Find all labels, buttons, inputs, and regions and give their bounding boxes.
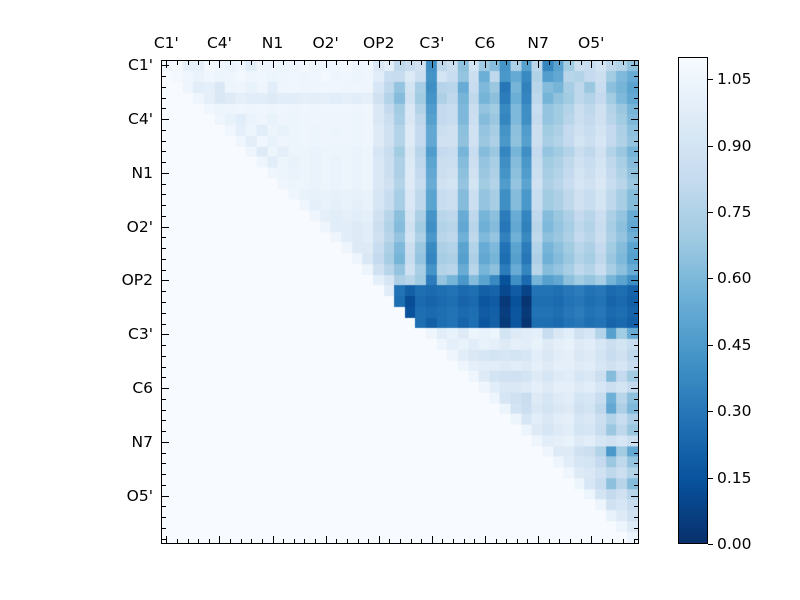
axis-tick bbox=[241, 539, 242, 544]
axis-tick bbox=[400, 539, 401, 544]
axis-tick bbox=[631, 388, 639, 389]
axis-tick bbox=[623, 539, 624, 544]
axis-tick bbox=[581, 539, 582, 544]
axis-tick bbox=[634, 291, 639, 292]
axis-tick bbox=[432, 60, 433, 68]
figure-canvas: C1'C4'N1O2'OP2C3'C6N7O5' C1'C4'N1O2'OP2C… bbox=[0, 0, 800, 600]
axis-tick bbox=[161, 248, 166, 249]
axis-tick bbox=[634, 60, 635, 65]
axis-tick bbox=[634, 345, 639, 346]
axis-tick bbox=[634, 463, 639, 464]
axis-tick bbox=[634, 399, 639, 400]
axis-tick bbox=[161, 65, 169, 66]
axis-tick bbox=[161, 410, 166, 411]
axis-tick bbox=[379, 536, 380, 544]
axis-tick bbox=[368, 539, 369, 544]
axis-tick bbox=[634, 259, 639, 260]
colorbar-tick bbox=[708, 278, 713, 279]
axis-tick bbox=[631, 496, 639, 497]
axis-tick bbox=[161, 141, 166, 142]
axis-tick bbox=[634, 130, 639, 131]
axis-tick bbox=[161, 453, 166, 454]
axis-tick bbox=[634, 506, 639, 507]
axis-tick bbox=[634, 108, 639, 109]
axis-tick bbox=[549, 60, 550, 65]
x-tick-label: N7 bbox=[527, 34, 548, 52]
axis-tick bbox=[304, 60, 305, 65]
colorbar-tick-label: 0.00 bbox=[717, 535, 752, 553]
axis-tick bbox=[161, 517, 166, 518]
axis-tick bbox=[161, 528, 166, 529]
axis-tick bbox=[230, 539, 231, 544]
axis-tick bbox=[421, 60, 422, 65]
y-tick-label: N7 bbox=[132, 433, 153, 451]
colorbar-tick-label: 0.45 bbox=[717, 336, 752, 354]
axis-tick bbox=[612, 60, 613, 65]
axis-tick bbox=[517, 539, 518, 544]
axis-tick bbox=[634, 431, 639, 432]
axis-tick bbox=[304, 539, 305, 544]
axis-tick bbox=[623, 60, 624, 65]
axis-tick bbox=[161, 388, 169, 389]
axis-tick bbox=[326, 536, 327, 544]
axis-tick bbox=[634, 194, 639, 195]
axis-tick bbox=[241, 60, 242, 65]
axis-tick bbox=[161, 162, 166, 163]
x-tick-label: O2' bbox=[312, 34, 338, 52]
axis-tick bbox=[506, 539, 507, 544]
axis-tick bbox=[634, 248, 639, 249]
axis-tick bbox=[161, 205, 166, 206]
axis-tick bbox=[634, 324, 639, 325]
axis-tick bbox=[527, 60, 528, 65]
axis-tick bbox=[294, 60, 295, 65]
axis-tick bbox=[161, 259, 166, 260]
axis-tick bbox=[273, 60, 274, 68]
axis-tick bbox=[198, 60, 199, 65]
colorbar-gradient bbox=[679, 58, 707, 543]
axis-tick bbox=[453, 539, 454, 544]
axis-tick bbox=[161, 130, 166, 131]
colorbar-tick bbox=[708, 212, 713, 213]
axis-tick bbox=[432, 536, 433, 544]
axis-tick bbox=[634, 76, 639, 77]
axis-tick bbox=[161, 420, 166, 421]
axis-tick bbox=[273, 536, 274, 544]
axis-tick bbox=[634, 151, 639, 152]
axis-tick bbox=[161, 184, 166, 185]
axis-tick bbox=[612, 539, 613, 544]
axis-tick bbox=[634, 453, 639, 454]
axis-tick bbox=[161, 345, 166, 346]
axis-tick bbox=[283, 539, 284, 544]
axis-tick bbox=[485, 536, 486, 544]
axis-tick bbox=[631, 173, 639, 174]
axis-tick bbox=[161, 108, 166, 109]
axis-tick bbox=[634, 367, 639, 368]
axis-tick bbox=[453, 60, 454, 65]
axis-tick bbox=[634, 377, 639, 378]
axis-tick bbox=[188, 539, 189, 544]
colorbar-tick bbox=[708, 478, 713, 479]
axis-tick bbox=[527, 539, 528, 544]
axis-tick bbox=[347, 539, 348, 544]
axis-tick bbox=[379, 60, 380, 68]
axis-tick bbox=[230, 60, 231, 65]
axis-tick bbox=[634, 410, 639, 411]
axis-tick bbox=[634, 474, 639, 475]
colorbar-tick bbox=[708, 79, 713, 80]
axis-tick bbox=[161, 227, 169, 228]
axis-tick bbox=[634, 87, 639, 88]
axis-tick bbox=[219, 536, 220, 544]
axis-tick bbox=[634, 313, 639, 314]
axis-tick bbox=[251, 60, 252, 65]
axis-tick bbox=[161, 356, 166, 357]
axis-tick bbox=[177, 60, 178, 65]
x-tick-label: C3' bbox=[419, 34, 444, 52]
x-tick-label: OP2 bbox=[363, 34, 394, 52]
axis-tick bbox=[634, 205, 639, 206]
axis-tick bbox=[161, 463, 166, 464]
axis-tick bbox=[219, 60, 220, 68]
colorbar-tick-label: 0.60 bbox=[717, 269, 752, 287]
axis-tick bbox=[161, 399, 166, 400]
colorbar-tick-label: 0.15 bbox=[717, 469, 752, 487]
axis-tick bbox=[347, 60, 348, 65]
heatmap-grid[interactable] bbox=[162, 61, 638, 543]
axis-tick bbox=[262, 539, 263, 544]
axis-tick bbox=[209, 60, 210, 65]
axis-tick bbox=[161, 334, 169, 335]
x-tick-label: O5' bbox=[578, 34, 604, 52]
y-tick-label: C6 bbox=[132, 379, 153, 397]
colorbar[interactable] bbox=[678, 57, 708, 544]
axis-tick bbox=[283, 60, 284, 65]
x-tick-label: C1' bbox=[154, 34, 179, 52]
axis-tick bbox=[591, 536, 592, 544]
axis-tick bbox=[634, 270, 639, 271]
axis-tick bbox=[166, 536, 167, 544]
x-tick-label: C6 bbox=[475, 34, 496, 52]
axis-tick bbox=[549, 539, 550, 544]
axis-tick bbox=[485, 60, 486, 68]
axis-tick bbox=[570, 60, 571, 65]
axis-tick bbox=[591, 60, 592, 68]
axis-tick bbox=[161, 151, 166, 152]
axis-tick bbox=[631, 227, 639, 228]
axis-tick bbox=[631, 442, 639, 443]
axis-tick bbox=[161, 291, 166, 292]
axis-tick bbox=[474, 60, 475, 65]
axis-tick bbox=[496, 60, 497, 65]
axis-tick bbox=[581, 60, 582, 65]
axis-tick bbox=[442, 539, 443, 544]
axis-tick bbox=[315, 60, 316, 65]
axis-tick bbox=[198, 539, 199, 544]
axis-tick bbox=[411, 60, 412, 65]
axis-tick bbox=[634, 528, 639, 529]
axis-tick bbox=[177, 539, 178, 544]
axis-tick bbox=[464, 60, 465, 65]
axis-tick bbox=[161, 87, 166, 88]
axis-tick bbox=[634, 216, 639, 217]
axis-tick bbox=[161, 237, 166, 238]
axis-tick bbox=[389, 60, 390, 65]
axis-tick bbox=[161, 76, 166, 77]
axis-tick bbox=[161, 474, 166, 475]
colorbar-tick bbox=[708, 146, 713, 147]
y-tick-label: C1' bbox=[128, 56, 153, 74]
axis-tick bbox=[161, 324, 166, 325]
axis-tick bbox=[161, 431, 166, 432]
axis-tick bbox=[559, 60, 560, 65]
axis-tick bbox=[294, 539, 295, 544]
colorbar-tick-label: 0.75 bbox=[717, 203, 752, 221]
axis-tick bbox=[631, 334, 639, 335]
axis-tick bbox=[161, 313, 166, 314]
colorbar-tick-label: 0.90 bbox=[717, 137, 752, 155]
axis-tick bbox=[634, 98, 639, 99]
colorbar-tick-label: 1.05 bbox=[717, 70, 752, 88]
axis-tick bbox=[336, 539, 337, 544]
axis-tick bbox=[634, 141, 639, 142]
axis-tick bbox=[326, 60, 327, 68]
axis-tick bbox=[634, 356, 639, 357]
axis-tick bbox=[474, 539, 475, 544]
axis-tick bbox=[358, 539, 359, 544]
colorbar-tick bbox=[708, 544, 713, 545]
y-tick-label: C4' bbox=[128, 110, 153, 128]
axis-tick bbox=[315, 539, 316, 544]
axis-tick bbox=[161, 270, 166, 271]
axis-tick bbox=[336, 60, 337, 65]
axis-tick bbox=[634, 162, 639, 163]
axis-tick bbox=[634, 237, 639, 238]
colorbar-tick bbox=[708, 345, 713, 346]
axis-tick bbox=[161, 280, 169, 281]
axis-tick bbox=[161, 506, 166, 507]
axis-tick bbox=[161, 377, 166, 378]
axis-tick bbox=[209, 539, 210, 544]
heatmap-axes[interactable] bbox=[161, 60, 639, 544]
axis-tick bbox=[161, 98, 166, 99]
axis-tick bbox=[161, 442, 169, 443]
y-tick-label: N1 bbox=[132, 164, 153, 182]
axis-tick bbox=[631, 119, 639, 120]
x-tick-label: C4' bbox=[207, 34, 232, 52]
axis-tick bbox=[634, 539, 639, 540]
axis-tick bbox=[634, 184, 639, 185]
axis-tick bbox=[538, 536, 539, 544]
axis-tick bbox=[368, 60, 369, 65]
axis-tick bbox=[631, 280, 639, 281]
axis-tick bbox=[634, 302, 639, 303]
axis-tick bbox=[161, 485, 166, 486]
axis-tick bbox=[634, 539, 635, 544]
axis-tick bbox=[251, 539, 252, 544]
axis-tick bbox=[538, 60, 539, 68]
axis-tick bbox=[421, 539, 422, 544]
axis-tick bbox=[634, 517, 639, 518]
axis-tick bbox=[161, 216, 166, 217]
axis-tick bbox=[161, 194, 166, 195]
y-tick-label: C3' bbox=[128, 325, 153, 343]
axis-tick bbox=[262, 60, 263, 65]
axis-tick bbox=[631, 65, 639, 66]
axis-tick bbox=[570, 539, 571, 544]
colorbar-tick bbox=[708, 411, 713, 412]
axis-tick bbox=[166, 60, 167, 68]
axis-tick bbox=[161, 496, 169, 497]
colorbar-tick-label: 0.30 bbox=[717, 402, 752, 420]
axis-tick bbox=[358, 60, 359, 65]
axis-tick bbox=[496, 539, 497, 544]
axis-tick bbox=[602, 539, 603, 544]
axis-tick bbox=[400, 60, 401, 65]
axis-tick bbox=[411, 539, 412, 544]
axis-tick bbox=[161, 119, 169, 120]
y-tick-label: O2' bbox=[127, 218, 153, 236]
axis-tick bbox=[161, 367, 166, 368]
axis-tick bbox=[506, 60, 507, 65]
axis-tick bbox=[517, 60, 518, 65]
axis-tick bbox=[559, 539, 560, 544]
axis-tick bbox=[161, 302, 166, 303]
axis-tick bbox=[464, 539, 465, 544]
axis-tick bbox=[389, 539, 390, 544]
axis-tick bbox=[161, 539, 166, 540]
axis-tick bbox=[161, 173, 169, 174]
axis-tick bbox=[188, 60, 189, 65]
x-tick-label: N1 bbox=[262, 34, 283, 52]
y-tick-label: O5' bbox=[127, 487, 153, 505]
axis-tick bbox=[634, 485, 639, 486]
y-tick-label: OP2 bbox=[122, 271, 153, 289]
axis-tick bbox=[602, 60, 603, 65]
axis-tick bbox=[442, 60, 443, 65]
axis-tick bbox=[634, 420, 639, 421]
